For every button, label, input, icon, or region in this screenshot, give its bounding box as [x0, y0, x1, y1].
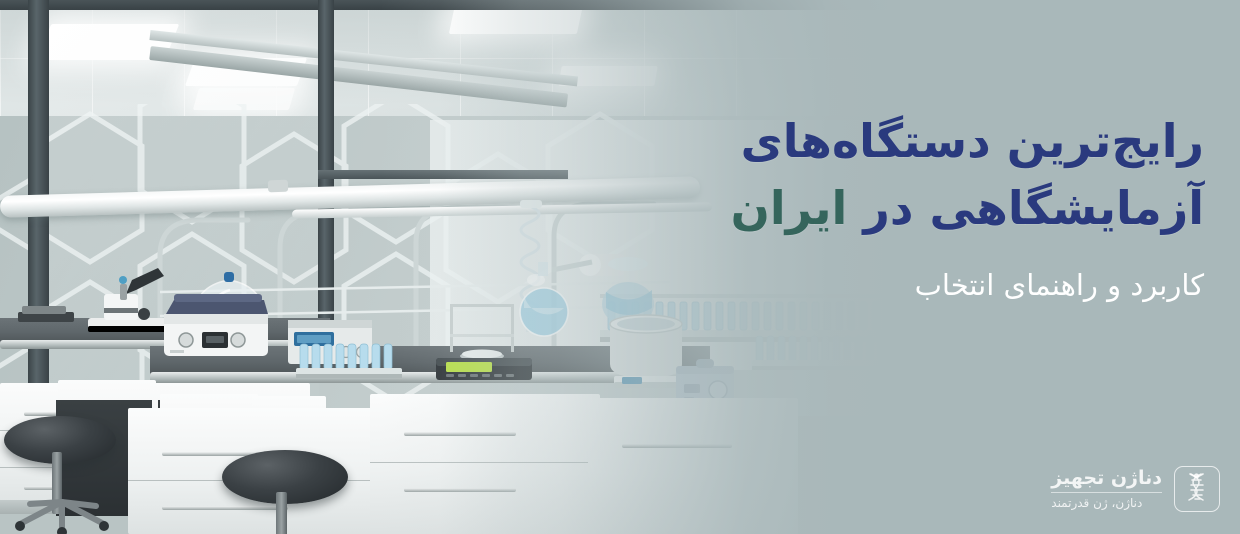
dna-helix-icon [1174, 466, 1220, 512]
logo-name: دناژن تجهیز [1051, 469, 1162, 488]
brand-logo[interactable]: دناژن تجهیز دناژن، ژن قدرتمند [1051, 466, 1220, 512]
logo-tagline: دناژن، ژن قدرتمند [1051, 497, 1142, 509]
headline-highlight-iran: ایران [731, 181, 848, 235]
headline-line-1: رایج‌ترین دستگاه‌های [734, 108, 1204, 175]
hero-banner: رایج‌ترین دستگاه‌های آزمایشگاهی در ایران… [0, 0, 1240, 534]
subheadline: کاربرد و راهنمای انتخاب [734, 268, 1204, 302]
logo-divider [1051, 492, 1162, 493]
logo-text-block: دناژن تجهیز دناژن، ژن قدرتمند [1051, 469, 1162, 509]
headline-block: رایج‌ترین دستگاه‌های آزمایشگاهی در ایران [734, 108, 1204, 241]
headline-line-2: آزمایشگاهی در ایران [734, 175, 1204, 242]
headline-line-2-text: آزمایشگاهی در [863, 181, 1204, 235]
banner-content: رایج‌ترین دستگاه‌های آزمایشگاهی در ایران… [734, 0, 1204, 534]
